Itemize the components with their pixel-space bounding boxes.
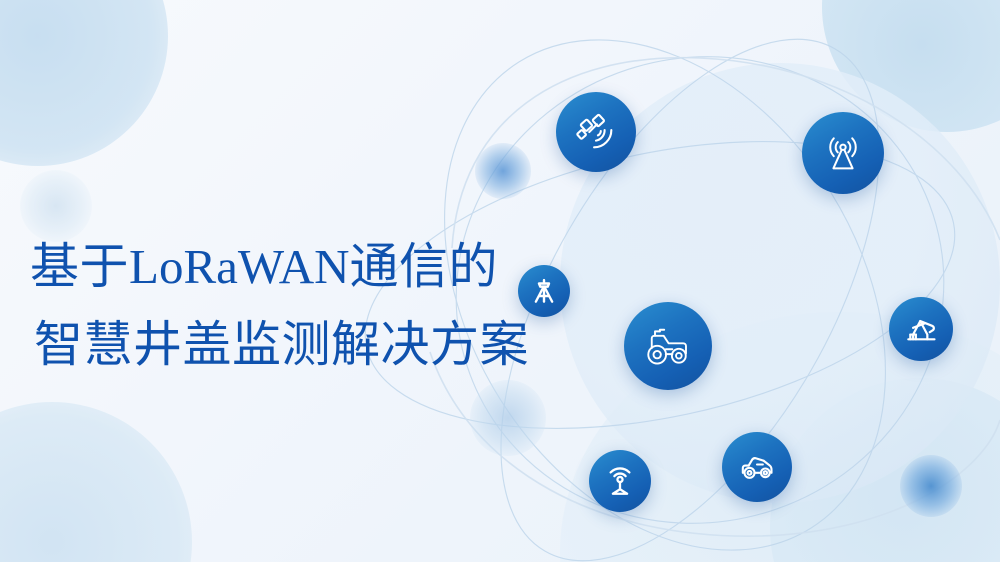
satellite-dish-icon bbox=[573, 109, 619, 155]
glow-dot-left-lower bbox=[470, 380, 546, 456]
title-line-1-latin: LoRaWAN bbox=[129, 239, 349, 294]
orbit-arc-top bbox=[452, 58, 1000, 248]
radio-tower-icon bbox=[820, 130, 866, 176]
title-line-1-suffix: 通信的 bbox=[349, 240, 498, 294]
glow-dot-upper-center bbox=[475, 143, 531, 199]
node-tractor[interactable] bbox=[624, 302, 712, 390]
node-signal-beacon[interactable] bbox=[589, 450, 651, 512]
node-satellite[interactable] bbox=[556, 92, 636, 172]
tractor-icon bbox=[642, 320, 694, 372]
node-rover[interactable] bbox=[722, 432, 792, 502]
slide-title: 基于LoRaWAN通信的 智慧井盖监测解决方案 bbox=[30, 228, 529, 384]
node-radio-tower[interactable] bbox=[802, 112, 884, 194]
rover-vehicle-icon bbox=[737, 447, 777, 487]
bottom-right-blob bbox=[770, 378, 1000, 562]
title-line-1: 基于LoRaWAN通信的 bbox=[30, 228, 529, 306]
oil-pumpjack-icon bbox=[902, 310, 940, 348]
survey-tripod-icon bbox=[529, 276, 559, 306]
title-line-2: 智慧井盖监测解决方案 bbox=[30, 306, 529, 384]
node-oil-pump[interactable] bbox=[889, 297, 953, 361]
title-line-1-prefix: 基于 bbox=[30, 240, 129, 294]
title-slide: 基于LoRaWAN通信的 智慧井盖监测解决方案 bbox=[0, 0, 1000, 562]
bottom-left-blob bbox=[0, 402, 192, 562]
signal-beacon-icon bbox=[602, 463, 638, 499]
glow-dot-bottom-right bbox=[900, 455, 962, 517]
top-left-blob bbox=[0, 0, 168, 166]
